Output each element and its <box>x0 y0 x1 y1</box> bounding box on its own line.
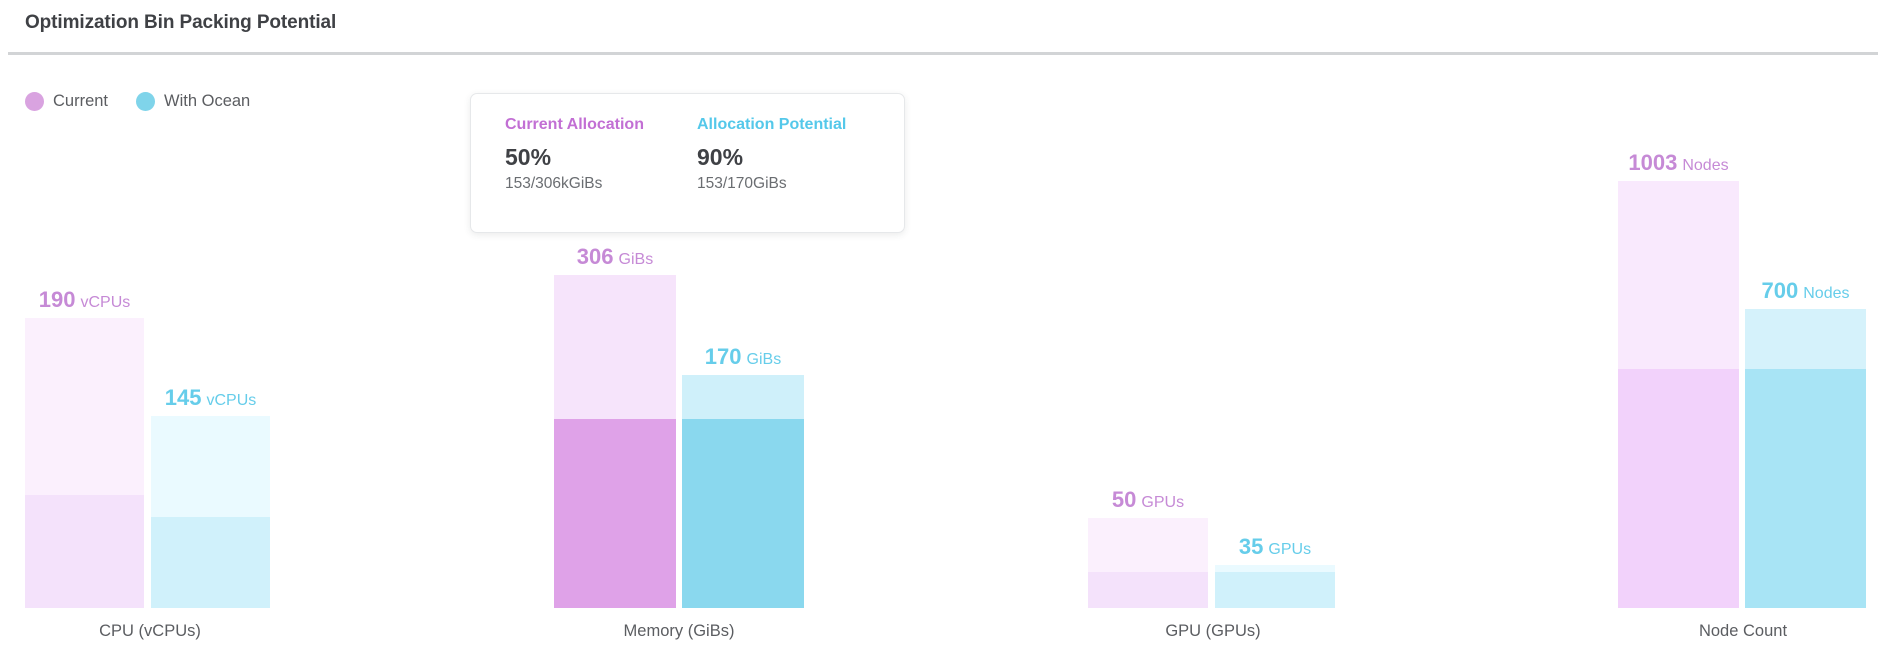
category-axis-label: CPU (vCPUs) <box>25 622 275 641</box>
bar-with-ocean[interactable] <box>1215 565 1335 608</box>
bar-capacity-segment <box>151 416 270 517</box>
category-axis-label: GPU (GPUs) <box>1088 622 1338 641</box>
bar-value-unit: GiBs <box>747 351 782 368</box>
bar-used-segment <box>151 517 270 608</box>
allocation-potential-value: 90% <box>697 145 889 170</box>
page-title: Optimization Bin Packing Potential <box>25 12 336 34</box>
bar-used-segment <box>1088 572 1208 608</box>
chart-panel: Optimization Bin Packing Potential Curre… <box>0 0 1886 666</box>
bar-value-label: 35GPUs <box>1239 534 1311 560</box>
bar-capacity-segment <box>1088 518 1208 572</box>
allocation-potential-detail: 153/170GiBs <box>697 175 889 193</box>
bar-value-number: 145 <box>165 385 202 410</box>
bar-value-unit: GPUs <box>1141 494 1184 511</box>
current-allocation-heading: Current Allocation <box>505 116 697 134</box>
bar-chart: 190vCPUs145vCPUsCPU (vCPUs)306GiBs170GiB… <box>0 0 1886 666</box>
bar-capacity-segment <box>1215 565 1335 572</box>
bar-with-ocean[interactable] <box>1745 309 1866 608</box>
bar-value-label: 190vCPUs <box>39 287 131 313</box>
legend-label: With Ocean <box>164 92 250 111</box>
legend-label: Current <box>53 92 108 111</box>
bar-value-label: 50GPUs <box>1112 487 1184 513</box>
bar-used-segment <box>25 495 144 608</box>
bar-used-segment <box>1215 572 1335 608</box>
legend-item-current[interactable]: Current <box>25 92 108 111</box>
current-allocation-value: 50% <box>505 145 697 170</box>
bar-used-segment <box>1618 369 1739 608</box>
bar-used-segment <box>1745 369 1866 608</box>
bar-value-number: 190 <box>39 287 76 312</box>
legend-item-with-ocean[interactable]: With Ocean <box>136 92 250 111</box>
bar-value-unit: Nodes <box>1803 285 1849 302</box>
bar-with-ocean[interactable] <box>682 375 804 608</box>
bar-value-unit: vCPUs <box>80 294 130 311</box>
bar-value-label: 145vCPUs <box>165 385 257 411</box>
current-allocation-detail: 153/306kGiBs <box>505 175 697 193</box>
bar-capacity-segment <box>1745 309 1866 369</box>
circle-dot-icon <box>136 92 155 111</box>
allocation-potential-column: Allocation Potential 90% 153/170GiBs <box>697 116 889 232</box>
bar-used-segment <box>682 419 804 608</box>
bar-capacity-segment <box>25 318 144 495</box>
bar-with-ocean[interactable] <box>151 416 270 608</box>
bar-value-label: 306GiBs <box>577 244 653 270</box>
bar-group-node-count[interactable]: 1003Nodes700NodesNode Count <box>1618 0 1868 666</box>
bar-current[interactable] <box>554 275 676 608</box>
circle-dot-icon <box>25 92 44 111</box>
bar-value-label: 170GiBs <box>705 344 781 370</box>
bar-used-segment <box>554 419 676 608</box>
bar-value-number: 306 <box>577 244 614 269</box>
bar-group-gpu-gpus[interactable]: 50GPUs35GPUsGPU (GPUs) <box>1088 0 1338 666</box>
current-allocation-column: Current Allocation 50% 153/306kGiBs <box>505 116 697 232</box>
category-axis-label: Memory (GiBs) <box>554 622 804 641</box>
bar-value-unit: vCPUs <box>206 392 256 409</box>
bar-value-unit: GPUs <box>1268 541 1311 558</box>
allocation-potential-heading: Allocation Potential <box>697 116 889 134</box>
bar-current[interactable] <box>25 318 144 608</box>
bar-value-unit: GiBs <box>619 251 654 268</box>
bar-value-unit: Nodes <box>1682 157 1728 174</box>
category-axis-label: Node Count <box>1618 622 1868 641</box>
bar-capacity-segment <box>682 375 804 419</box>
chart-legend: Current With Ocean <box>25 92 250 111</box>
bar-value-number: 35 <box>1239 534 1263 559</box>
header-divider <box>8 52 1878 55</box>
allocation-summary-card: Current Allocation 50% 153/306kGiBs Allo… <box>470 93 905 233</box>
bar-value-number: 1003 <box>1628 150 1677 175</box>
bar-value-number: 700 <box>1762 278 1799 303</box>
bar-capacity-segment <box>554 275 676 419</box>
bar-current[interactable] <box>1088 518 1208 608</box>
bar-value-number: 50 <box>1112 487 1136 512</box>
bar-value-number: 170 <box>705 344 742 369</box>
bar-current[interactable] <box>1618 181 1739 608</box>
bar-value-label: 700Nodes <box>1762 278 1850 304</box>
bar-capacity-segment <box>1618 181 1739 369</box>
bar-value-label: 1003Nodes <box>1628 150 1728 176</box>
